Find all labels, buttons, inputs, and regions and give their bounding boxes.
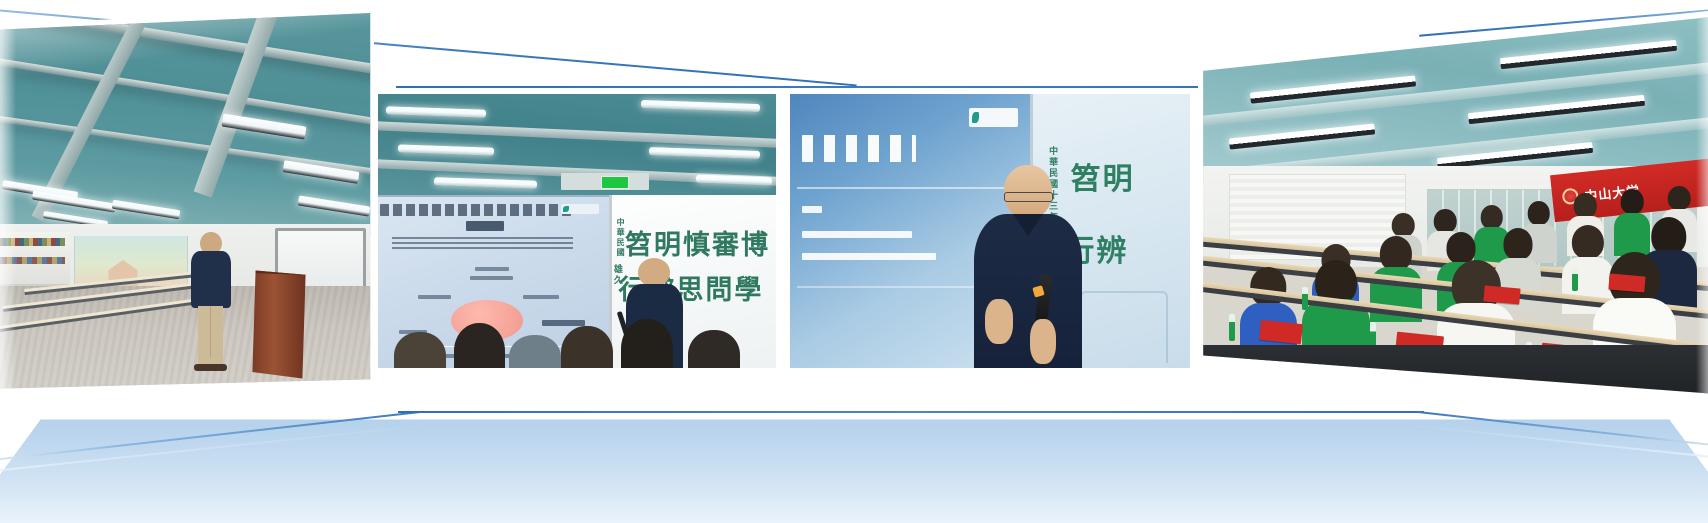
audience-head <box>394 332 446 369</box>
audience-head <box>1481 205 1504 229</box>
foreground-audience <box>378 319 776 368</box>
audience-head <box>1527 201 1550 225</box>
presenter-shoes <box>194 364 227 371</box>
audience-head <box>688 330 740 368</box>
slide-logo-icon <box>969 108 1019 127</box>
diagram-label <box>418 295 451 299</box>
water-bottle <box>1302 287 1308 310</box>
gallery-photo-2[interactable]: 中華民國 笤明慎審博 行辨思問學 雄久 <box>378 94 776 368</box>
diagram-label <box>475 267 508 271</box>
gallery-banner: Wide view of a training classroom: teal … <box>0 0 1708 523</box>
name-card <box>1608 274 1646 293</box>
slide-and-speaker-scene: 中華民國 笤明慎審博 行辨思問學 雄久 <box>378 94 776 368</box>
name-card <box>1483 285 1521 304</box>
audience-head <box>1503 228 1532 259</box>
calligraphy-signature: 雄久 <box>612 264 625 286</box>
slide-question-bullet <box>802 231 911 238</box>
floor-rim-center <box>398 411 1424 413</box>
audience-head <box>1621 189 1644 213</box>
glasses-icon <box>1004 192 1053 202</box>
exit-sign-icon <box>601 176 629 188</box>
audience-head <box>561 326 613 368</box>
presenter-torso <box>191 251 231 308</box>
speaker-figure <box>974 165 1082 368</box>
audience-head <box>1379 236 1411 271</box>
slide-question-bullet <box>802 253 936 260</box>
audience-head <box>1392 213 1415 237</box>
slide-paragraph <box>392 237 573 252</box>
speaker-closeup-scene: 中華民國十三年十二月 笤明 行辨 雄久 <box>790 94 1190 368</box>
audience-head <box>509 335 561 368</box>
audience-head <box>1574 193 1597 217</box>
perspective-floor-panel <box>0 406 1708 523</box>
audience-head <box>1651 217 1686 255</box>
gallery-photo-4-image: 中山大学 <box>1198 10 1708 400</box>
speaker-head <box>638 258 670 286</box>
standing-presenter <box>188 232 234 371</box>
speaker-body <box>974 214 1082 368</box>
classroom-wide-scene <box>0 8 374 394</box>
bookshelf <box>0 232 70 286</box>
diagram-label <box>470 276 513 280</box>
water-bottle <box>1229 314 1235 341</box>
background-archway <box>1080 291 1168 362</box>
calligraphy-line-1: 笤明慎審博 <box>625 223 770 262</box>
name-card <box>1259 320 1302 344</box>
slide-center-label <box>466 221 504 231</box>
audience-head <box>1668 186 1691 210</box>
audience-head <box>1434 209 1457 233</box>
speaker-hand-holding-mic <box>1030 319 1056 364</box>
audience-head <box>454 323 506 368</box>
slide-logo-icon <box>561 204 599 214</box>
slide-headline <box>380 204 571 216</box>
wooden-lectern <box>252 270 305 378</box>
gallery-photo-2-image: 中華民國 笤明慎審博 行辨思問學 雄久 <box>378 94 776 368</box>
gallery-photo-3[interactable]: 中華民國十三年十二月 笤明 行辨 雄久 Speaker in a dark n <box>790 94 1190 368</box>
slide-headline <box>802 135 916 162</box>
gallery-photo-3-image: 中華民國十三年十二月 笤明 行辨 雄久 <box>790 94 1190 368</box>
slide-question-bullet <box>802 206 822 213</box>
audience-head <box>621 319 673 368</box>
audience-scene: 中山大学 <box>1198 10 1708 400</box>
gallery-photo-1[interactable]: Wide view of a training classroom: teal … <box>0 8 374 394</box>
gallery-photo-1-image <box>0 8 374 394</box>
diagram-label <box>523 295 559 299</box>
gallery-photo-4[interactable]: 中山大学 <box>1198 10 1708 400</box>
speaker-hand-gesture <box>985 299 1013 344</box>
presenter-legs <box>198 306 224 364</box>
water-bottle <box>1572 267 1578 290</box>
